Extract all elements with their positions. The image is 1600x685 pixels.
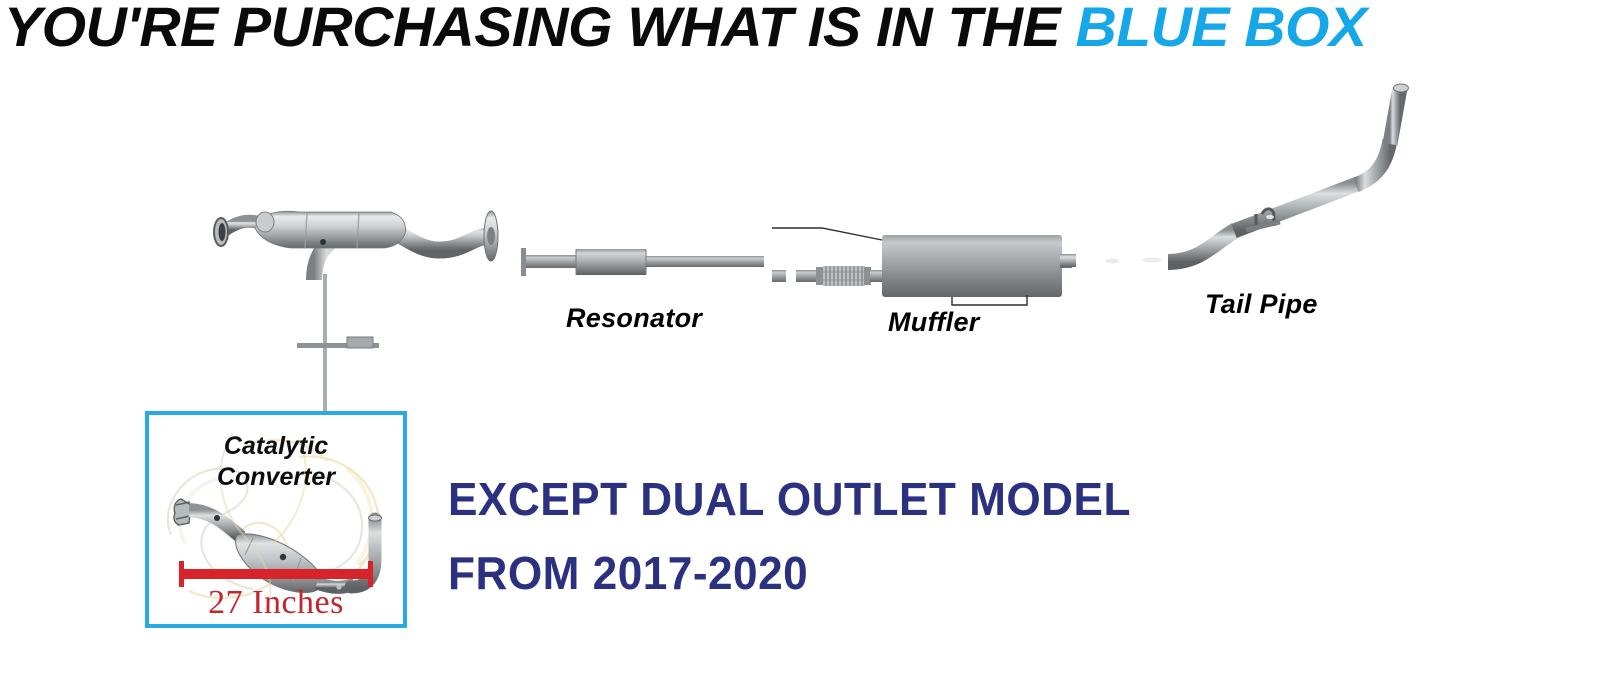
label-tail-pipe: Tail Pipe	[1205, 289, 1318, 320]
callout-text-block: EXCEPT DUAL OUTLET MODEL FROM 2017-2020	[448, 462, 1159, 610]
callout-line-2: FROM 2017-2020	[448, 536, 1131, 610]
header-title-accent: BLUE BOX	[1075, 0, 1366, 58]
muffler-body	[882, 235, 1062, 297]
converter-can	[255, 211, 405, 248]
flex-pipe	[823, 266, 865, 286]
blue-highlight-box: Catalytic Converter 27 Inches	[145, 411, 407, 628]
tail-pipe-bend-low	[1168, 230, 1236, 262]
tail-pipe-tip	[1394, 84, 1409, 92]
resonator-outlet-pipe	[646, 256, 764, 267]
tail-pipe-mid	[1234, 183, 1360, 231]
resonator-flange	[521, 248, 526, 276]
tail-pipe-outlet	[1390, 88, 1400, 144]
label-muffler: Muffler	[888, 307, 980, 338]
measurement-text: 27 Inches	[149, 584, 403, 622]
tail-pipe-graphic	[1060, 78, 1420, 308]
resonator-body	[576, 249, 646, 275]
header-title-primary: YOU'RE PURCHASING WHAT IS IN THE	[4, 0, 1075, 58]
header-banner: YOU'RE PURCHASING WHAT IS IN THE BLUE BO…	[0, 0, 1600, 58]
inlet-pipe	[225, 221, 257, 230]
muffler-hanger-upper	[772, 228, 882, 240]
measure-bar	[182, 569, 370, 579]
callout-line-1: EXCEPT DUAL OUTLET MODEL	[448, 462, 1131, 536]
o2-sensor-port	[320, 239, 326, 245]
label-resonator: Resonator	[566, 303, 702, 334]
tail-pipe-bend-high	[1356, 140, 1390, 185]
resonator-graphic	[518, 240, 768, 290]
header-title: YOU'RE PURCHASING WHAT IS IN THE BLUE BO…	[4, 0, 1367, 56]
